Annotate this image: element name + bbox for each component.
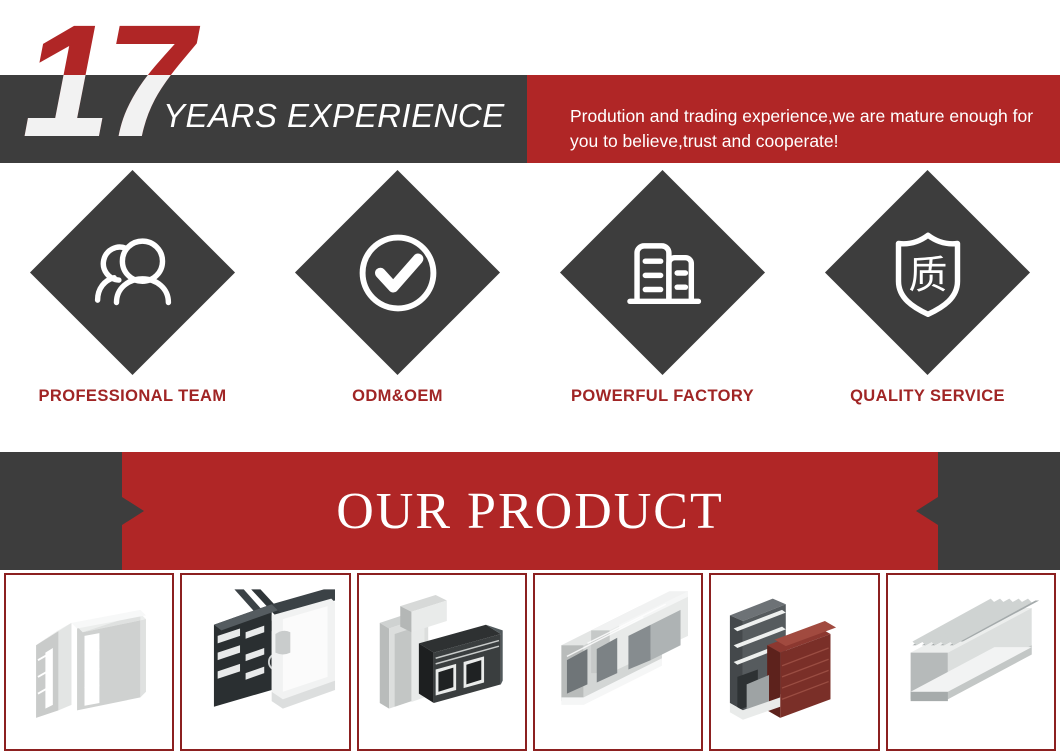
promo-banner-page: 17 17 YEARS EXPERIENCE Prodution and tra… [0,0,1060,755]
diamond-wrap [560,170,765,375]
feature-label: QUALITY SERVICE [850,387,1005,406]
feature-label: PROFESSIONAL TEAM [38,387,226,406]
our-product-ribbon-section: OUR PRODUCT [0,452,1060,570]
header-tagline: Prodution and trading experience,we are … [570,104,1050,154]
product-card[interactable] [709,573,879,751]
aluminium-window-frame-profile-silver [10,579,168,745]
feature-professional-team: PROFESSIONAL TEAM [0,168,265,443]
ribbon-shape: OUR PRODUCT [122,452,938,570]
aluminium-heat-sink-fin-profile [892,579,1050,745]
product-card[interactable] [886,573,1056,751]
section-title: OUR PRODUCT [122,452,938,570]
feature-label: ODM&OEM [352,387,443,406]
thermal-break-window-profile-section [186,579,344,745]
feature-powerful-factory: POWERFUL FACTORY [530,168,795,443]
people-team-icon [74,214,192,332]
industrial-aluminium-slot-profile [539,579,697,745]
years-experience-label: YEARS EXPERIENCE [163,97,505,135]
feature-odm-oem: ODM&OEM [265,168,530,443]
check-circle-icon [339,214,457,332]
feature-quality-service: 质 QUALITY SERVICE [795,168,1060,443]
diamond-wrap [295,170,500,375]
product-gallery [0,573,1060,751]
aluminium-profile-group-silver-black [363,579,521,745]
factory-building-icon [604,214,722,332]
diamond-wrap [30,170,235,375]
product-card[interactable] [533,573,703,751]
feature-label: POWERFUL FACTORY [571,387,754,406]
product-card[interactable] [4,573,174,751]
product-card[interactable] [357,573,527,751]
svg-text:质: 质 [908,253,947,298]
shield-quality-icon: 质 [869,214,987,332]
product-card[interactable] [180,573,350,751]
wood-grain-sliding-window-profile [715,579,873,745]
diamond-wrap: 质 [825,170,1030,375]
features-section: PROFESSIONAL TEAM ODM&OEM [0,168,1060,443]
header-section: 17 17 YEARS EXPERIENCE Prodution and tra… [0,0,1060,163]
